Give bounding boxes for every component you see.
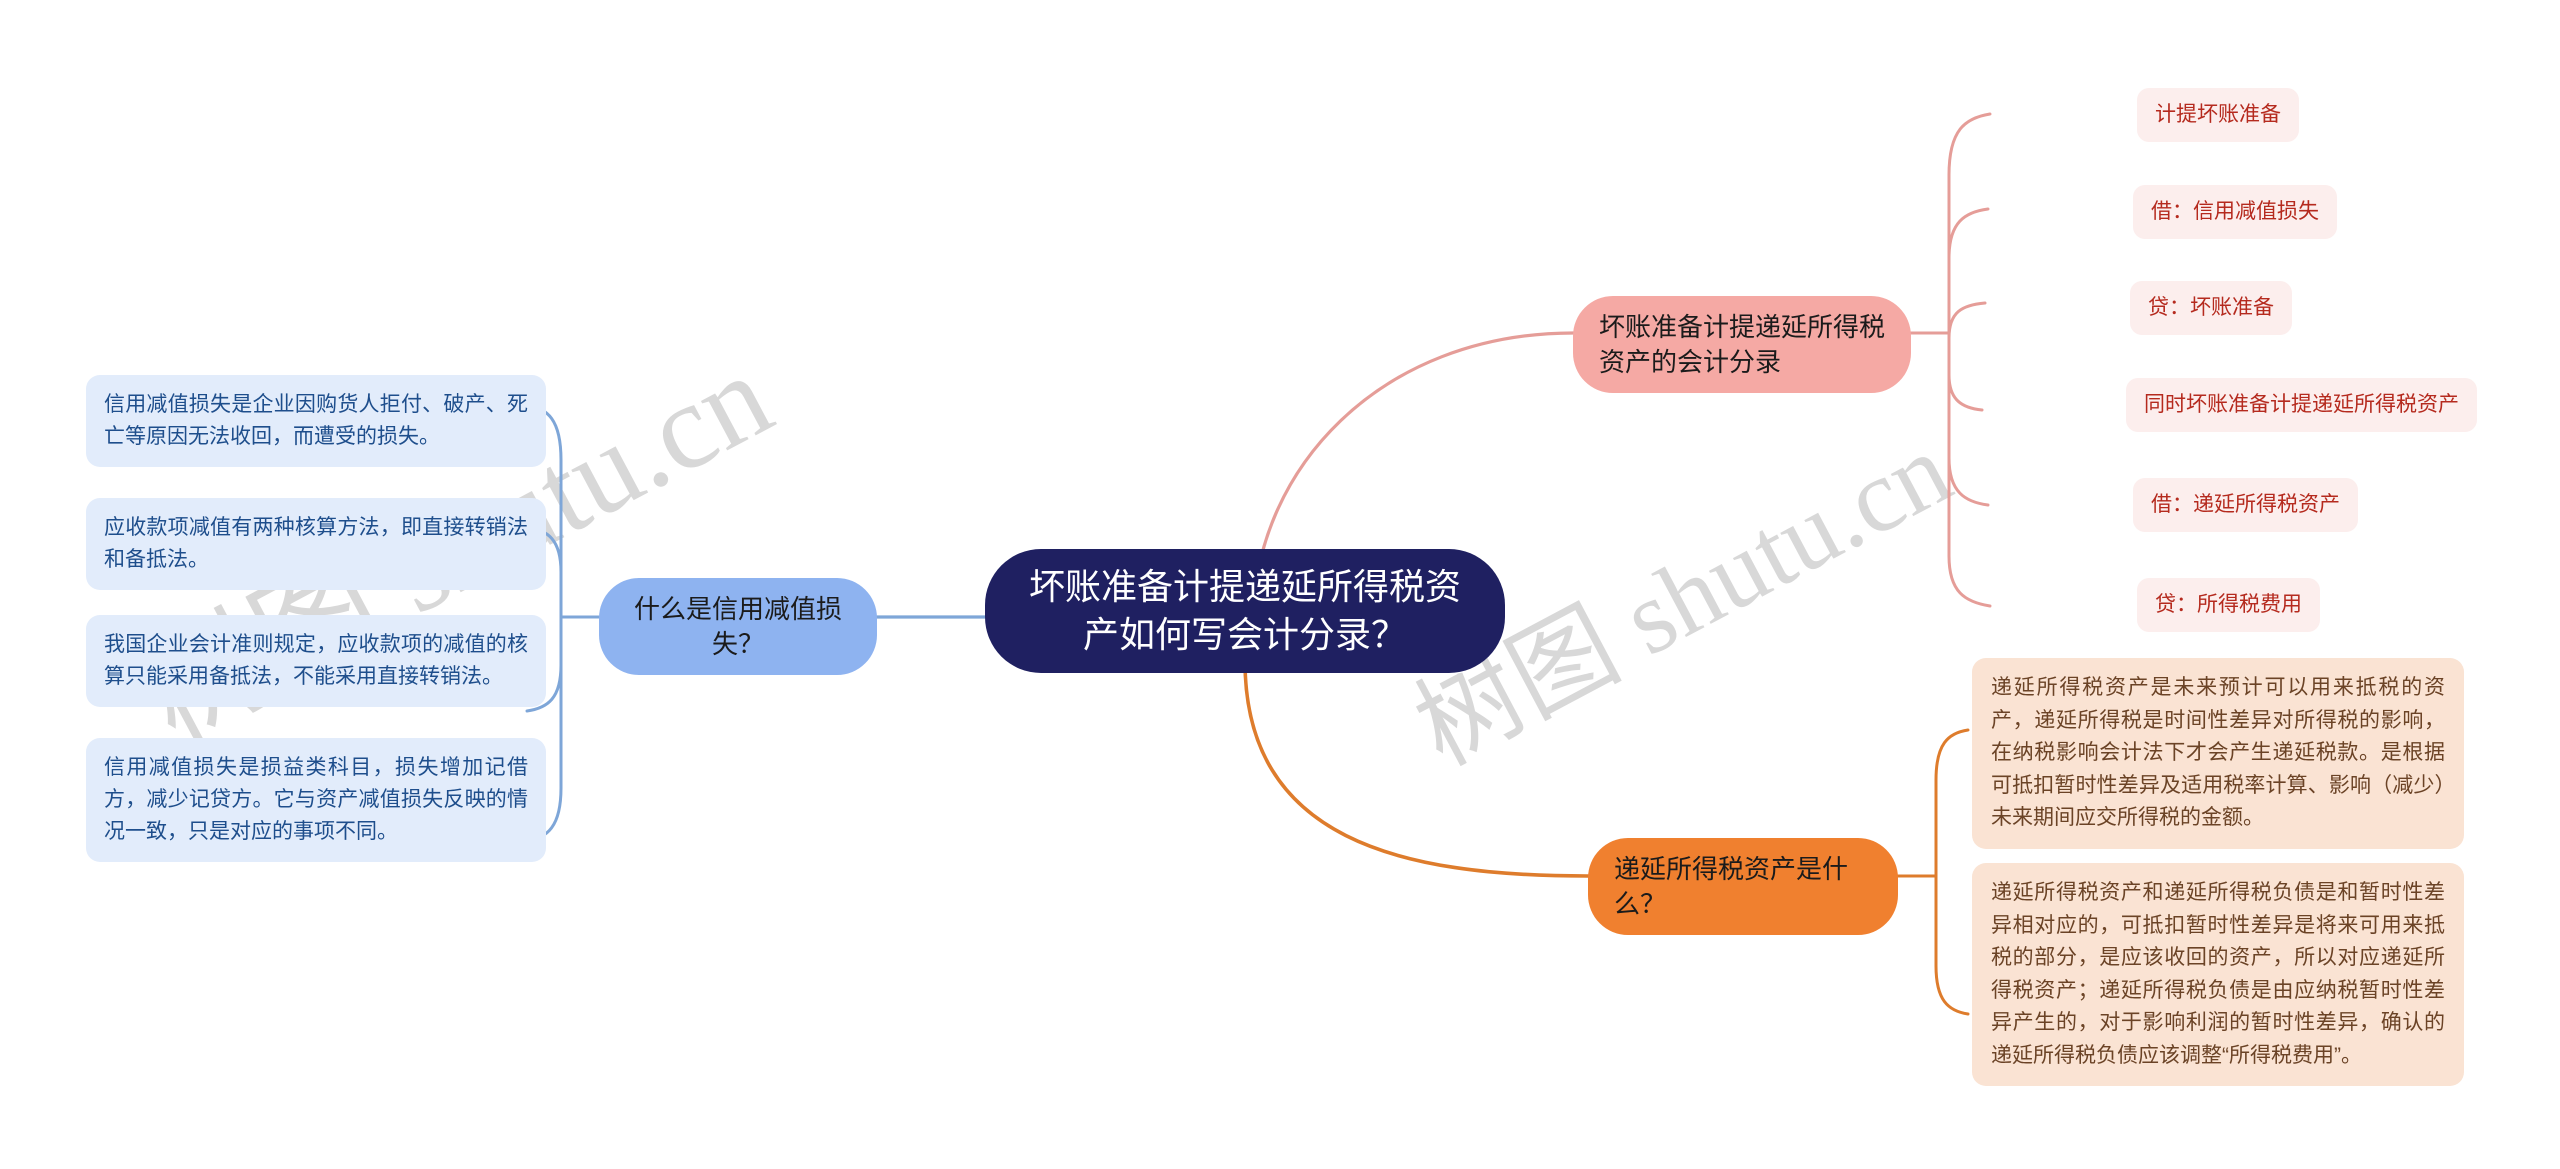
leaf-credit-3[interactable]: 我国企业会计准则规定，应收款项的减值的核算只能采用备抵法，不能采用直接转销法。 [86,615,546,707]
leaf-credit-1-text: 信用减值损失是企业因购货人拒付、破产、死亡等原因无法收回，而遭受的损失。 [104,389,528,453]
root-label: 坏账准备计提递延所得税资产如何写会计分录？ [1019,563,1471,659]
branch-accounting-entry-label: 坏账准备计提递延所得税资产的会计分录 [1599,310,1885,379]
leaf-credit-4[interactable]: 信用减值损失是损益类科目，损失增加记借方，减少记贷方。它与资产减值损失反映的情况… [86,738,546,862]
link-entry-arm-1 [1949,114,1990,333]
link-entry-arm-3 [1949,303,1985,338]
leaf-entry-4[interactable]: 同时坏账准备计提递延所得税资产 [2126,378,2477,432]
leaf-entry-4-text: 同时坏账准备计提递延所得税资产 [2144,389,2459,421]
leaf-entry-2-text: 借：信用减值损失 [2151,196,2319,228]
leaf-entry-3[interactable]: 贷：坏账准备 [2130,281,2292,335]
leaf-entry-5-text: 借：递延所得税资产 [2151,489,2340,521]
branch-accounting-entry[interactable]: 坏账准备计提递延所得税资产的会计分录 [1573,296,1911,393]
leaf-entry-5[interactable]: 借：递延所得税资产 [2133,478,2358,532]
leaf-entry-1[interactable]: 计提坏账准备 [2137,88,2299,142]
link-root-to-dta [1245,661,1588,876]
leaf-entry-6[interactable]: 贷：所得税费用 [2137,578,2320,632]
leaf-entry-6-text: 贷：所得税费用 [2155,589,2302,621]
branch-credit-impairment[interactable]: 什么是信用减值损失？ [599,578,877,675]
leaf-credit-3-text: 我国企业会计准则规定，应收款项的减值的核算只能采用备抵法，不能采用直接转销法。 [104,629,528,693]
leaf-dta-1[interactable]: 递延所得税资产是未来预计可以用来抵税的资产，递延所得税是时间性差异对所得税的影响… [1972,658,2464,849]
link-entry-arm-4 [1949,333,1982,410]
root-node[interactable]: 坏账准备计提递延所得税资产如何写会计分录？ [985,549,1505,673]
branch-deferred-tax-asset[interactable]: 递延所得税资产是什么？ [1588,838,1898,935]
link-entry-arm-6 [1949,333,1990,606]
link-entry-arm-5 [1949,333,1988,505]
leaf-dta-1-text: 递延所得税资产是未来预计可以用来抵税的资产，递延所得税是时间性差异对所得税的影响… [1991,672,2445,835]
link-dta-arm-1 [1936,730,1968,876]
branch-deferred-tax-asset-label: 递延所得税资产是什么？ [1614,852,1872,921]
leaf-credit-4-text: 信用减值损失是损益类科目，损失增加记借方，减少记贷方。它与资产减值损失反映的情况… [104,752,528,848]
leaf-credit-1[interactable]: 信用减值损失是企业因购货人拒付、破产、死亡等原因无法收回，而遭受的损失。 [86,375,546,467]
leaf-entry-1-text: 计提坏账准备 [2155,99,2281,131]
leaf-entry-2[interactable]: 借：信用减值损失 [2133,185,2337,239]
leaf-dta-2[interactable]: 递延所得税资产和递延所得税负债是和暂时性差异相对应的，可抵扣暂时性差异是将来可用… [1972,863,2464,1086]
leaf-entry-3-text: 贷：坏账准备 [2148,292,2274,324]
link-dta-arm-2 [1936,876,1968,1014]
mindmap-canvas: 树图 shutu.cn 树图 shutu.cn 坏账准备计提递延所得税资产如何写… [0,0,2560,1169]
leaf-dta-2-text: 递延所得税资产和递延所得税负债是和暂时性差异相对应的，可抵扣暂时性差异是将来可用… [1991,877,2445,1072]
branch-credit-impairment-label: 什么是信用减值损失？ [625,592,851,661]
leaf-credit-2-text: 应收款项减值有两种核算方法，即直接转销法和备抵法。 [104,512,528,576]
leaf-credit-2[interactable]: 应收款项减值有两种核算方法，即直接转销法和备抵法。 [86,498,546,590]
